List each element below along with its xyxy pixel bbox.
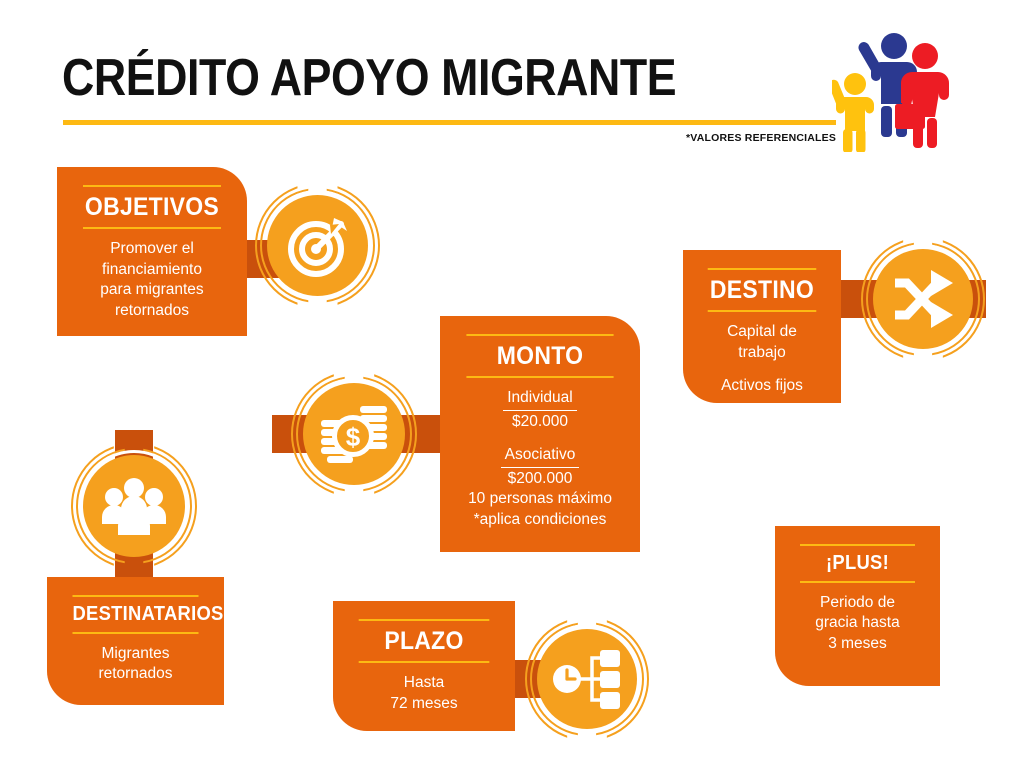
monto-sub-asociativo: Asociativo bbox=[501, 445, 580, 467]
migrant-family-logo bbox=[832, 26, 952, 152]
objetivos-line-1: Promover el bbox=[71, 239, 233, 259]
monto-spacer bbox=[454, 432, 626, 445]
objetivos-line-3: para migrantes bbox=[71, 280, 233, 300]
card-title-plazo: PLAZO bbox=[359, 619, 490, 663]
title-underline-rule bbox=[63, 120, 836, 125]
monto-amount-asociativo: $200.000 bbox=[454, 469, 626, 489]
people-group-icon bbox=[100, 477, 168, 535]
card-body-objetivos: Promover el financiamiento para migrante… bbox=[71, 239, 233, 321]
reference-values-note: *VALORES REFERENCIALES bbox=[686, 132, 836, 144]
money-coins-icon: $ bbox=[319, 402, 389, 466]
card-body-destinatarios: Migrantes retornados bbox=[61, 644, 210, 685]
plazo-line-2: 72 meses bbox=[347, 694, 501, 714]
page-title: CRÉDITO APOYO MIGRANTE bbox=[62, 48, 676, 108]
card-title-objetivos: OBJETIVOS bbox=[83, 185, 221, 229]
card-body-monto: Individual $20.000 Asociativo $200.000 1… bbox=[454, 388, 626, 530]
objetivos-icon-badge bbox=[255, 183, 380, 308]
objetivos-line-2: financiamiento bbox=[71, 260, 233, 280]
card-plus[interactable]: ¡PLUS! Periodo de gracia hasta 3 meses bbox=[775, 526, 940, 686]
plazo-line-1: Hasta bbox=[347, 673, 501, 693]
card-objetivos[interactable]: OBJETIVOS Promover el financiamiento par… bbox=[57, 167, 247, 336]
monto-note-max-personas: 10 personas máximo bbox=[454, 489, 626, 509]
destino-line-3: Activos fijos bbox=[697, 376, 827, 396]
card-title-monto: MONTO bbox=[466, 334, 613, 378]
destino-line-1: Capital de bbox=[697, 322, 827, 342]
destino-spacer bbox=[697, 363, 827, 376]
clock-schedule-icon bbox=[552, 648, 622, 710]
card-title-destino: DESTINO bbox=[708, 268, 817, 312]
plus-line-2: gracia hasta bbox=[789, 613, 926, 633]
plus-line-1: Periodo de bbox=[789, 593, 926, 613]
objetivos-line-4: retornados bbox=[71, 301, 233, 321]
destinatarios-line-1: Migrantes bbox=[61, 644, 210, 664]
card-destinatarios[interactable]: DESTINATARIOS Migrantes retornados bbox=[47, 577, 224, 705]
plazo-icon-badge bbox=[525, 617, 649, 741]
card-plazo[interactable]: PLAZO Hasta 72 meses bbox=[333, 601, 515, 731]
destinatarios-icon-badge bbox=[71, 443, 197, 569]
destino-line-2: trabajo bbox=[697, 343, 827, 363]
card-monto[interactable]: MONTO Individual $20.000 Asociativo $200… bbox=[440, 316, 640, 552]
card-body-plus: Periodo de gracia hasta 3 meses bbox=[789, 593, 926, 654]
monto-note-condiciones: *aplica condiciones bbox=[454, 510, 626, 530]
svg-text:$: $ bbox=[346, 422, 361, 452]
target-icon bbox=[285, 213, 351, 279]
destino-icon-badge bbox=[861, 237, 985, 361]
card-title-plus: ¡PLUS! bbox=[800, 544, 915, 583]
card-destino[interactable]: DESTINO Capital de trabajo Activos fijos bbox=[683, 250, 841, 403]
card-body-plazo: Hasta 72 meses bbox=[347, 673, 501, 714]
monto-sub-individual: Individual bbox=[503, 388, 577, 410]
plus-line-3: 3 meses bbox=[789, 634, 926, 654]
monto-icon-badge: $ bbox=[291, 371, 417, 497]
monto-amount-individual: $20.000 bbox=[454, 412, 626, 432]
card-body-destino: Capital de trabajo Activos fijos bbox=[697, 322, 827, 396]
destinatarios-line-2: retornados bbox=[61, 664, 210, 684]
shuffle-arrows-icon bbox=[891, 270, 955, 328]
infographic-canvas: CRÉDITO APOYO MIGRANTE *VALORES REFERENC… bbox=[0, 0, 1024, 768]
card-title-destinatarios: DESTINATARIOS bbox=[72, 595, 198, 634]
